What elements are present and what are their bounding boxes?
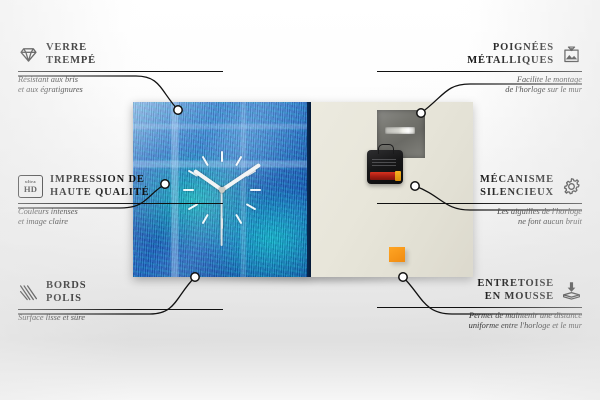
callout-header: ultra HD IMPRESSION DEHAUTE QUALITÉ xyxy=(18,174,223,200)
callout-rule xyxy=(18,71,223,72)
callout-impression-haute-qualite: ultra HD IMPRESSION DEHAUTE QUALITÉ Coul… xyxy=(18,174,223,228)
hanger-slot xyxy=(385,127,415,134)
callout-title: VERRETREMPÉ xyxy=(46,42,96,68)
foam-spacer-arrow-icon xyxy=(561,280,582,301)
hanger-loop xyxy=(378,144,394,154)
callout-subtitle: Facilite le montagede l'horloge sur le m… xyxy=(377,75,582,97)
callout-header: BORDSPOLIS xyxy=(18,280,223,306)
callout-rule xyxy=(377,203,582,204)
callout-subtitle: Résistant aux briset aux égratignures xyxy=(18,75,223,97)
callout-subtitle: Couleurs intenseset image claire xyxy=(18,207,223,229)
callout-rule xyxy=(377,307,582,308)
mechanism-label xyxy=(372,157,396,166)
callout-header: VERRETREMPÉ xyxy=(18,42,223,68)
callout-subtitle: Permet de maintenir une distanceuniforme… xyxy=(377,311,582,333)
callout-title: BORDSPOLIS xyxy=(46,280,86,306)
callout-title: ENTRETOISEEN MOUSSE xyxy=(477,278,554,304)
callout-entretoise-en-mousse: ENTRETOISEEN MOUSSE Permet de maintenir … xyxy=(377,278,582,332)
callout-header: ENTRETOISEEN MOUSSE xyxy=(377,278,582,304)
polished-edges-icon xyxy=(18,282,39,303)
infographic-canvas: VERRETREMPÉ Résistant aux briset aux égr… xyxy=(0,0,600,400)
callout-header: MÉCANISMESILENCIEUX xyxy=(377,174,582,200)
callout-subtitle: Les aiguilles de l'horlogene font aucun … xyxy=(377,207,582,229)
callout-rule xyxy=(18,203,223,204)
callout-header: POIGNÉESMÉTALLIQUES xyxy=(377,42,582,68)
gear-icon xyxy=(561,176,582,197)
ultra-hd-main-text: HD xyxy=(24,185,37,194)
callout-title: MÉCANISMESILENCIEUX xyxy=(480,174,554,200)
callout-subtitle: Surface lisse et sûre xyxy=(18,313,223,324)
diamond-icon xyxy=(18,44,39,65)
callout-mecanisme-silencieux: MÉCANISMESILENCIEUX Les aiguilles de l'h… xyxy=(377,174,582,228)
callout-title: IMPRESSION DEHAUTE QUALITÉ xyxy=(50,174,149,200)
ultra-hd-icon: ultra HD xyxy=(18,175,43,198)
callout-poignees-metalliques: POIGNÉESMÉTALLIQUES Facilite le montaged… xyxy=(377,42,582,96)
callout-title: POIGNÉESMÉTALLIQUES xyxy=(467,42,554,68)
callout-bords-polis: BORDSPOLIS Surface lisse et sûre xyxy=(18,280,223,323)
callout-rule xyxy=(377,71,582,72)
callout-rule xyxy=(18,309,223,310)
wall-frame-hook-icon xyxy=(561,44,582,65)
foam-spacer xyxy=(389,247,405,262)
callout-verre-trempe: VERRETREMPÉ Résistant aux briset aux égr… xyxy=(18,42,223,96)
